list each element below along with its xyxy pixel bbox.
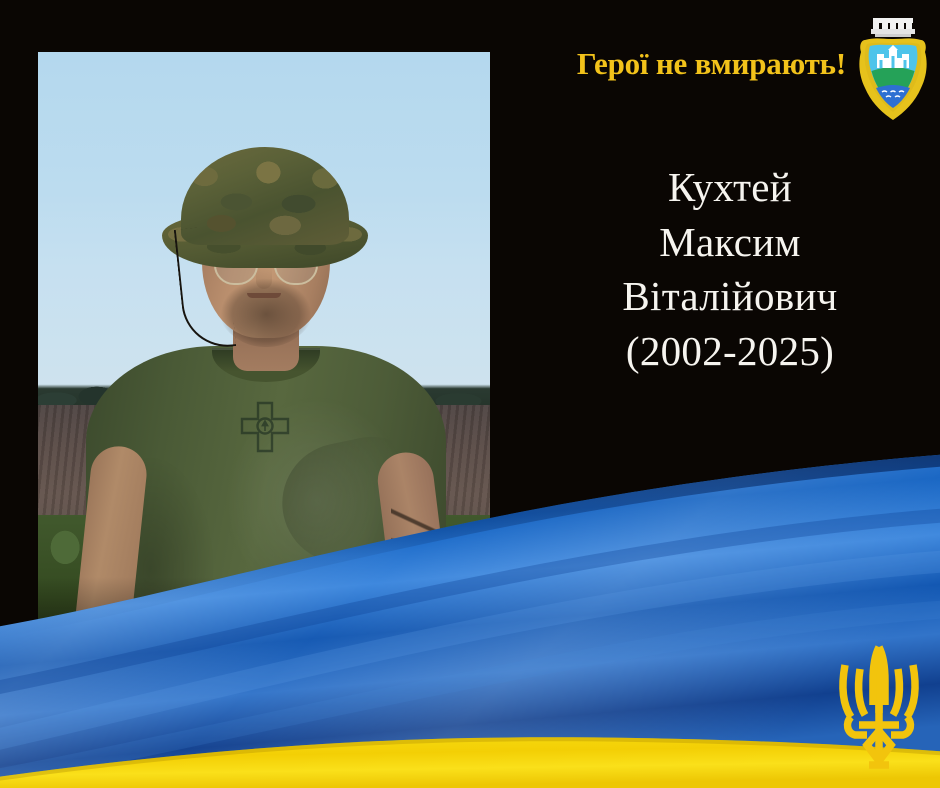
memorial-life-dates: (2002-2025) [520,324,940,379]
memorial-surname: Кухтей [520,160,940,215]
heroes-never-die-slogan: Герої не вмирають! [536,48,846,79]
ukrainian-trident-icon [833,643,925,771]
mural-crown-icon [871,18,915,37]
flag-shading [0,454,940,788]
subject-mouth [247,293,281,298]
memorial-name-block: Кухтей Максим Віталійович (2002-2025) [520,160,940,378]
memorial-patronymic: Віталійович [520,269,940,324]
subject-nose [256,267,272,289]
coat-of-arms-icon [855,16,931,124]
memorial-first-name: Максим [520,215,940,270]
ukrainian-flag-wave [0,430,940,788]
memorial-poster: Герої не вмирають! [0,0,940,788]
